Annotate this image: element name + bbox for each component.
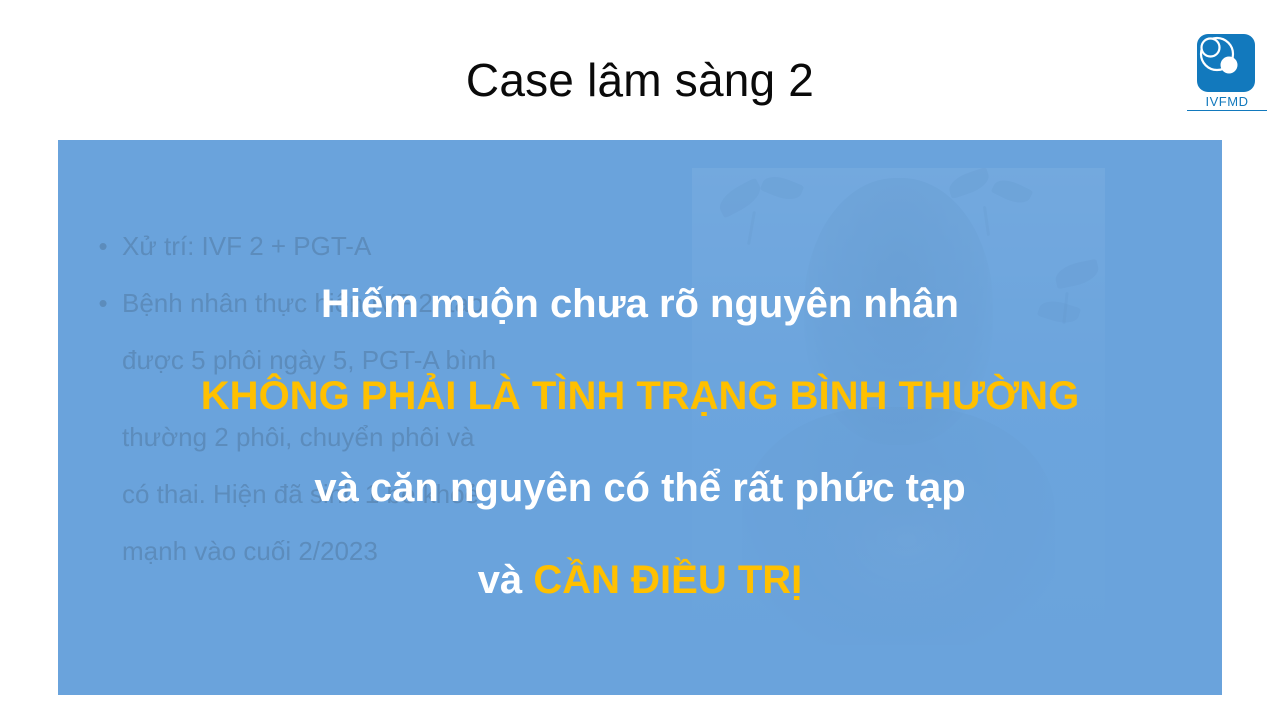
content-panel: • Xử trí: IVF 2 + PGT-A • Bệnh nhân thực…: [58, 140, 1222, 695]
ivfmd-logo: IVFMD: [1187, 32, 1267, 120]
overlay-line-1: Hiếm muộn chưa rõ nguyên nhân: [58, 258, 1222, 350]
overlay-line-4-prefix: và: [478, 558, 534, 602]
page-title: Case lâm sàng 2: [0, 52, 1280, 108]
overlay-line-4: và CẦN ĐIỀU TRỊ: [58, 534, 1222, 626]
overlay-message: Hiếm muộn chưa rõ nguyên nhân KHÔNG PHẢI…: [58, 258, 1222, 626]
overlay-line-4-highlight: CẦN ĐIỀU TRỊ: [533, 558, 802, 602]
ivfmd-mark-icon: [1195, 32, 1257, 94]
logo-caption: IVFMD: [1187, 94, 1267, 111]
overlay-line-2: KHÔNG PHẢI LÀ TÌNH TRẠNG BÌNH THƯỜNG: [58, 350, 1222, 442]
overlay-line-3: và căn nguyên có thể rất phức tạp: [58, 442, 1222, 534]
